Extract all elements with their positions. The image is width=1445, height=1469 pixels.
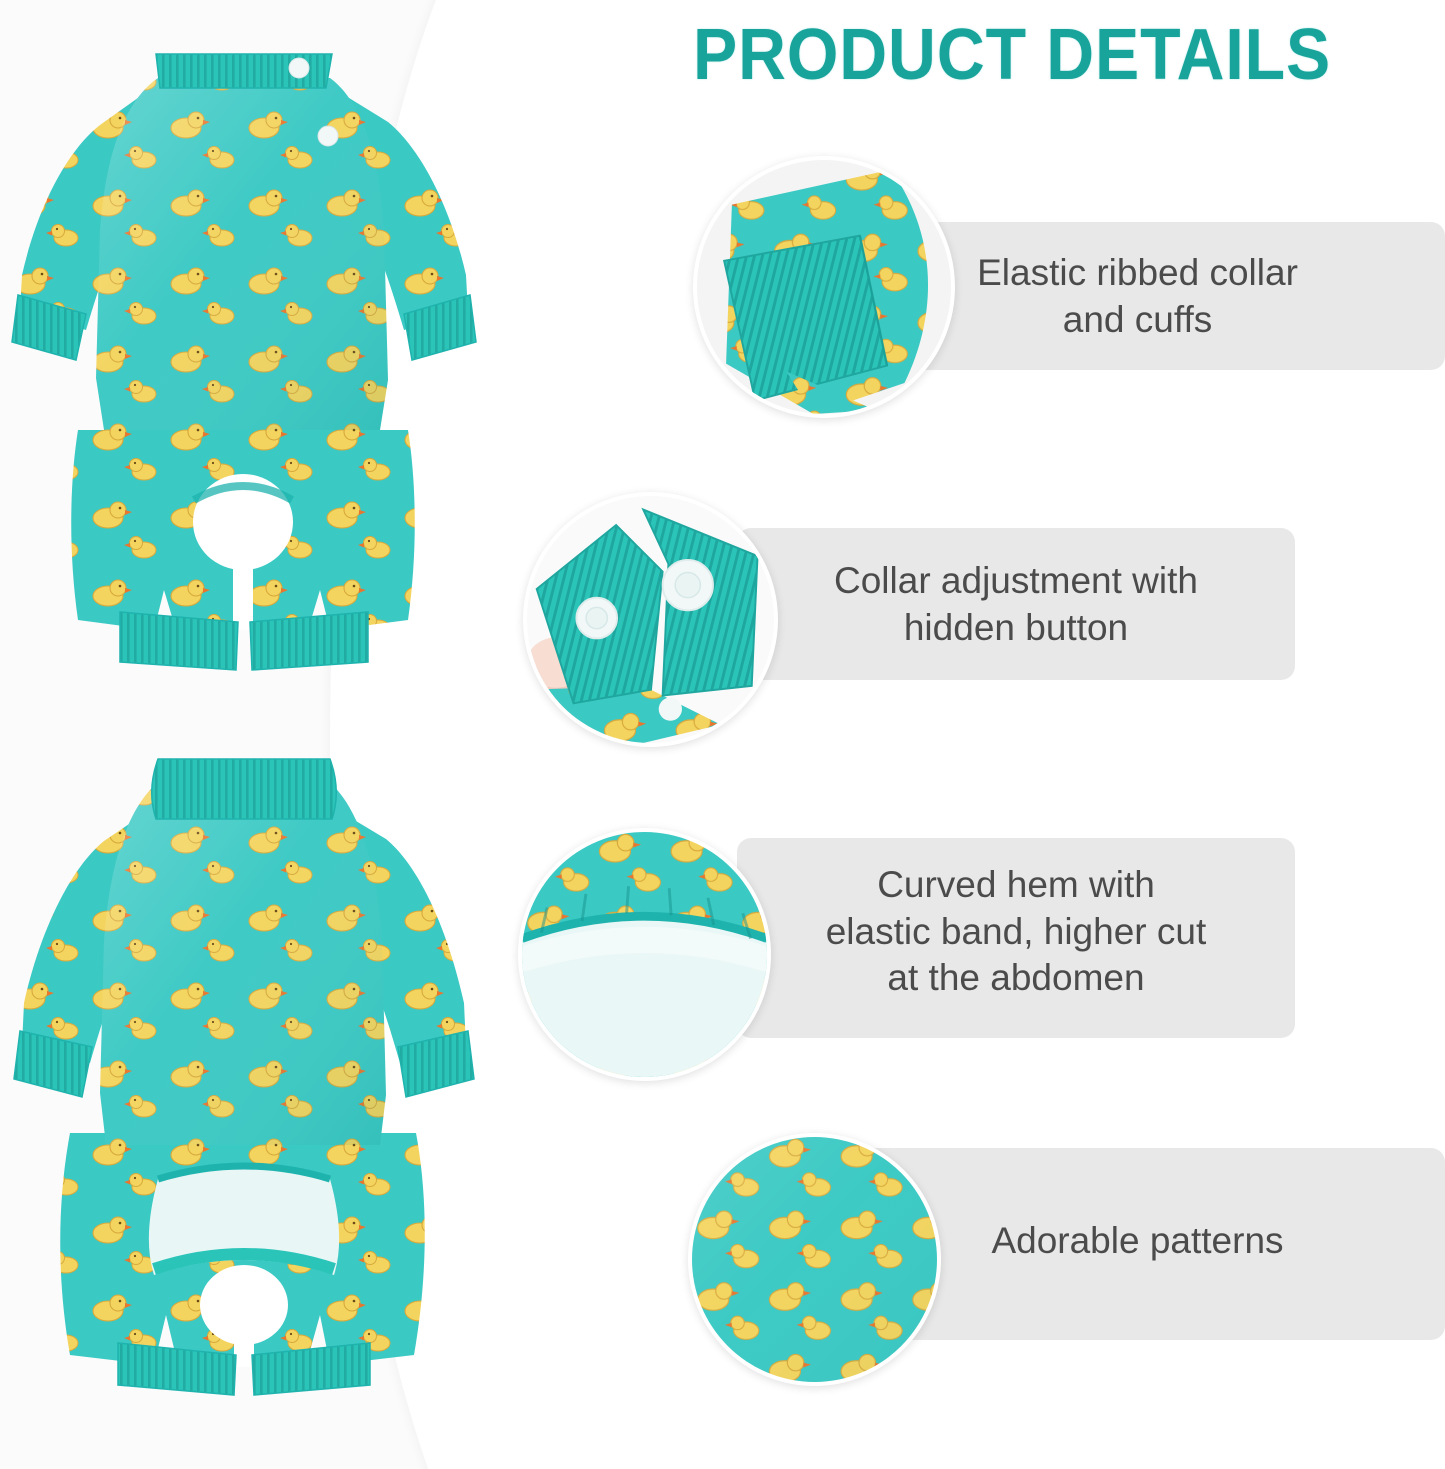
product-details-infographic: PRODUCT DETAILS Elastic ribbed collar an…	[0, 0, 1445, 1469]
feature-label-2: Collar adjustment with hidden button	[737, 558, 1295, 651]
page-title: PRODUCT DETAILS	[693, 14, 1385, 96]
product-image-pane	[0, 0, 505, 1469]
details-pane: PRODUCT DETAILS Elastic ribbed collar an…	[505, 0, 1445, 1469]
product-photo-front-view	[8, 30, 478, 690]
product-photo-back-view	[8, 745, 478, 1405]
duck-pattern-photo	[688, 1133, 941, 1386]
hidden-button-photo	[523, 492, 778, 747]
curved-hem-photo	[518, 828, 771, 1081]
feature-label-3: Curved hem with elastic band, higher cut…	[737, 862, 1295, 1002]
ribbed-cuff-photo	[693, 156, 955, 418]
